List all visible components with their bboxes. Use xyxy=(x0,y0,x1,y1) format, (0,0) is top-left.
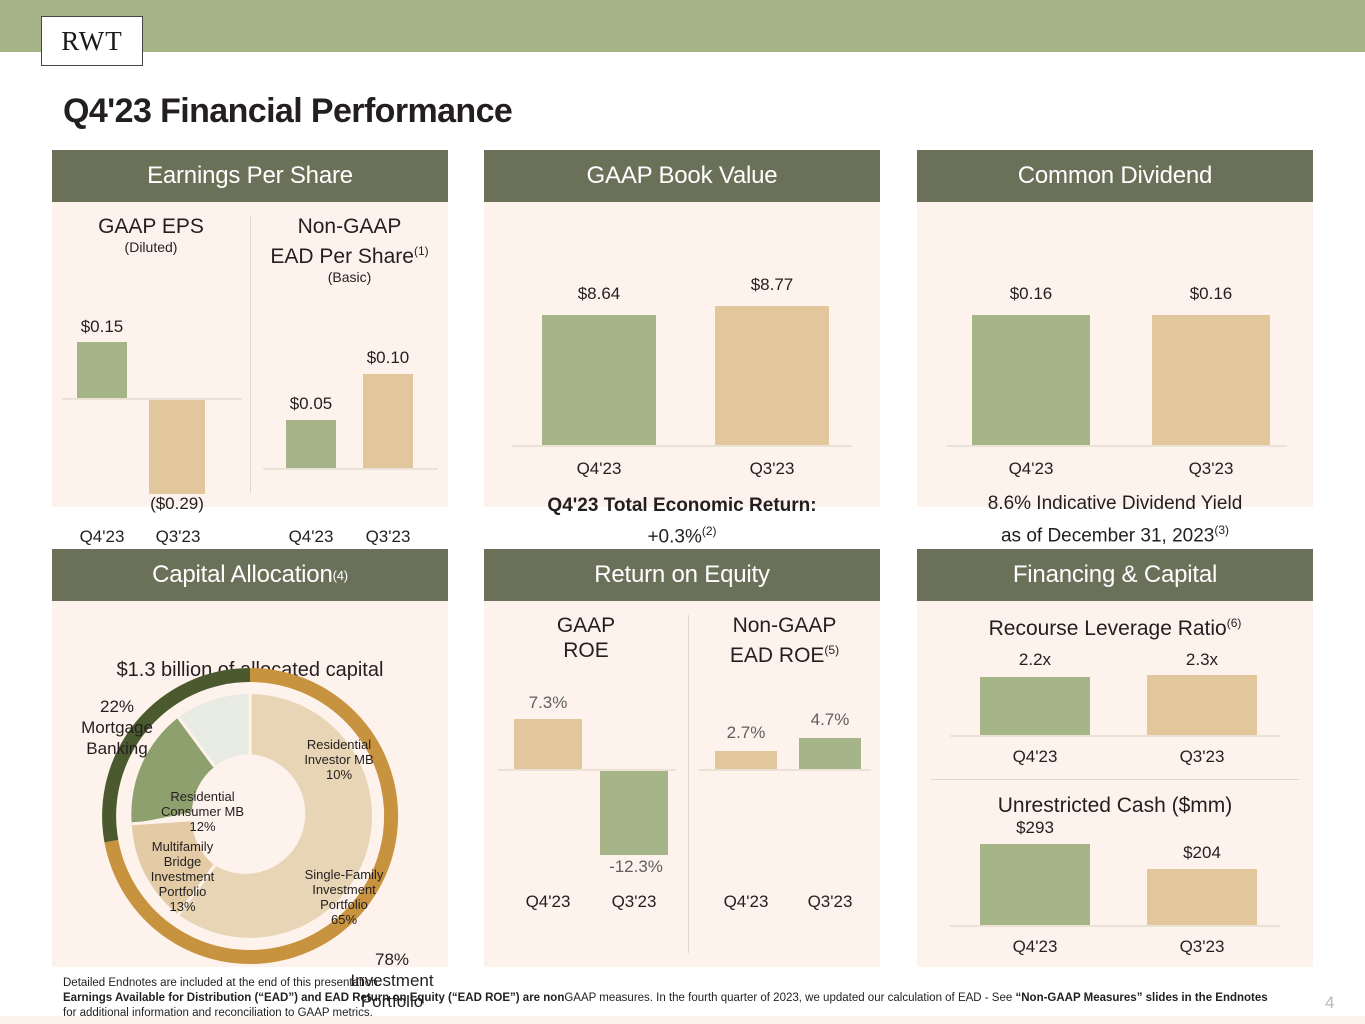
panel-title-gaap-roe-line1: GAAP xyxy=(557,614,615,637)
axis-label-cash-q4: Q4'23 xyxy=(975,937,1095,957)
bar-value-book-value-q3: $8.77 xyxy=(712,275,832,295)
bar-ead-roe-q3 xyxy=(799,738,861,769)
footnote-normal-1: GAAP measures. In the fourth quarter of … xyxy=(564,992,1012,1004)
bar-book-value-q3 xyxy=(715,306,829,445)
card-title-earnings-per-share: Earnings Per Share xyxy=(52,150,448,202)
panel-subtitle-ead: (Basic) xyxy=(251,269,448,286)
donut-label-multifamily-bridge: MultifamilyBridgeInvestmentPortfolio13% xyxy=(130,839,235,914)
card-title-financing-and-capital: Financing & Capital xyxy=(917,549,1313,601)
panel-unrestricted-cash: Unrestricted Cash ($mm) $293 $204 Q4'23 … xyxy=(917,779,1313,967)
bar-gaap-eps-q3 xyxy=(149,400,205,494)
card-title-gaap-book-value: GAAP Book Value xyxy=(484,150,880,202)
note-total-economic-return-value: +0.3%(2) xyxy=(484,519,880,549)
axis-label-ead-q4: Q4'23 xyxy=(271,527,351,547)
page-number: 4 xyxy=(1325,993,1334,1013)
axis-label-dividend-q4: Q4'23 xyxy=(969,459,1093,479)
panel-title-recourse-leverage: Recourse Leverage Ratio xyxy=(989,617,1227,640)
bar-leverage-q3 xyxy=(1147,675,1257,735)
chart-baseline xyxy=(512,445,852,447)
axis-label-cash-q3: Q3'23 xyxy=(1142,937,1262,957)
panel-title-ead-roe-sup: (5) xyxy=(824,643,839,657)
axis-label-ead-roe-q4: Q4'23 xyxy=(699,892,793,912)
panel-title-gaap-roe-line2: ROE xyxy=(563,639,609,662)
axis-label-book-value-q3: Q3'23 xyxy=(712,459,832,479)
bar-value-leverage-q4: 2.2x xyxy=(975,650,1095,670)
card-capital-allocation: Capital Allocation(4) $1.3 billion of al… xyxy=(52,549,448,967)
card-financing-and-capital: Financing & Capital Recourse Leverage Ra… xyxy=(917,549,1313,967)
rc-pct: 12% xyxy=(189,819,215,834)
panel-subtitle-gaap-eps: (Diluted) xyxy=(52,239,250,256)
axis-label-ead-roe-q3: Q3'23 xyxy=(783,892,877,912)
ri-pct: 10% xyxy=(326,767,352,782)
bar-value-cash-q4: $293 xyxy=(975,818,1095,838)
note-total-economic-return: Q4'23 Total Economic Return: xyxy=(484,494,880,518)
bar-ead-roe-q4 xyxy=(715,751,777,769)
bar-value-book-value-q4: $8.64 xyxy=(539,284,659,304)
axis-label-gaap-eps-q4: Q4'23 xyxy=(60,527,144,547)
chart-baseline xyxy=(263,468,438,470)
footnote-line-2: Earnings Available for Distribution (“EA… xyxy=(63,991,1303,1006)
mf-pct: 13% xyxy=(169,899,195,914)
panel-title-ead-roe-line1: Non-GAAP xyxy=(733,614,837,637)
bar-value-ead-roe-q3: 4.7% xyxy=(783,710,877,730)
axis-label-ead-q3: Q3'23 xyxy=(348,527,428,547)
bar-cash-q3 xyxy=(1147,869,1257,925)
ip-pct: 78% xyxy=(375,950,409,969)
donut-label-mortgage-banking: 22%MortgageBanking xyxy=(62,696,172,759)
ter-value: +0.3% xyxy=(647,526,701,547)
bar-ead-q3 xyxy=(363,374,413,468)
chart-baseline xyxy=(950,925,1280,927)
bar-gaap-roe-q4 xyxy=(514,719,582,769)
donut-label-residential-investor-mb: ResidentialInvestor MB10% xyxy=(284,737,394,782)
panel-recourse-leverage-ratio: Recourse Leverage Ratio(6) 2.2x 2.3x Q4'… xyxy=(917,601,1313,779)
card-earnings-per-share: Earnings Per Share GAAP EPS (Diluted) $0… xyxy=(52,150,448,507)
donut-label-residential-consumer-mb: ResidentialConsumer MB12% xyxy=(140,789,265,834)
rwt-logo: RWT xyxy=(41,16,143,66)
bar-value-cash-q3: $204 xyxy=(1142,843,1262,863)
panel-title-unrestricted-cash: Unrestricted Cash ($mm) xyxy=(998,794,1233,817)
bar-value-gaap-eps-q3: ($0.29) xyxy=(137,494,217,514)
capital-allocation-sup: (4) xyxy=(333,568,348,583)
card-title-common-dividend: Common Dividend xyxy=(917,150,1313,202)
bar-gaap-roe-q3 xyxy=(600,771,668,855)
bar-value-ead-q3: $0.10 xyxy=(348,348,428,368)
page-title: Q4'23 Financial Performance xyxy=(63,92,512,131)
ter-sup: (2) xyxy=(702,524,717,538)
note-dividend-yield-line1: 8.6% Indicative Dividend Yield xyxy=(917,492,1313,516)
bar-book-value-q4 xyxy=(542,315,656,445)
bar-ead-q4 xyxy=(286,420,336,468)
card-title-return-on-equity: Return on Equity xyxy=(484,549,880,601)
donut-label-single-family: Single-FamilyInvestmentPortfolio65% xyxy=(285,867,403,927)
chart-baseline xyxy=(950,735,1280,737)
bar-leverage-q4 xyxy=(980,677,1090,735)
note-dividend-yield-line2: as of December 31, 2023(3) xyxy=(917,518,1313,548)
bar-value-ead-roe-q4: 2.7% xyxy=(699,723,793,743)
footnote-line-1: Detailed Endnotes are included at the en… xyxy=(63,976,1303,991)
dividend-yield-sup: (3) xyxy=(1214,523,1229,537)
footnote-bold-2: “Non-GAAP Measures” slides in the Endnot… xyxy=(1015,992,1267,1004)
panel-title-gaap-eps: GAAP EPS xyxy=(98,215,204,238)
bar-dividend-q3 xyxy=(1152,315,1270,445)
panel-title-ead-line1: Non-GAAP xyxy=(298,215,402,238)
mb-pct: 22% xyxy=(100,697,134,716)
panel-title-ead-line2: EAD Per Share xyxy=(270,245,414,268)
bar-value-dividend-q4: $0.16 xyxy=(969,284,1093,304)
panel-ead-roe: Non-GAAP EAD ROE(5) 2.7% 4.7% Q4'23 Q3'2… xyxy=(689,601,880,967)
panel-gaap-roe: GAAP ROE 7.3% -12.3% Q4'23 Q3'23 xyxy=(484,601,688,967)
bar-cash-q4 xyxy=(980,844,1090,925)
axis-label-gaap-roe-q4: Q4'23 xyxy=(498,892,598,912)
bar-dividend-q4 xyxy=(972,315,1090,445)
axis-label-dividend-q3: Q3'23 xyxy=(1149,459,1273,479)
bottom-strip xyxy=(0,1016,1365,1024)
axis-label-leverage-q4: Q4'23 xyxy=(975,747,1095,767)
footnote-bold-1: Earnings Available for Distribution (“EA… xyxy=(63,992,564,1004)
card-title-capital-allocation: Capital Allocation(4) xyxy=(52,549,448,601)
card-gaap-book-value: GAAP Book Value $8.64 $8.77 Q4'23 Q3'23 … xyxy=(484,150,880,507)
axis-label-gaap-roe-q3: Q3'23 xyxy=(584,892,684,912)
axis-label-book-value-q4: Q4'23 xyxy=(539,459,659,479)
capital-allocation-title-text: Capital Allocation xyxy=(152,561,333,589)
axis-label-gaap-eps-q3: Q3'23 xyxy=(136,527,220,547)
bar-value-gaap-roe-q4: 7.3% xyxy=(498,693,598,713)
header-band xyxy=(0,0,1365,52)
card-common-dividend: Common Dividend $0.16 $0.16 Q4'23 Q3'23 … xyxy=(917,150,1313,507)
bar-value-ead-q4: $0.05 xyxy=(271,394,351,414)
chart-baseline xyxy=(947,445,1287,447)
bar-value-gaap-eps-q4: $0.15 xyxy=(62,317,142,337)
footnotes: Detailed Endnotes are included at the en… xyxy=(63,976,1303,1021)
bar-value-dividend-q3: $0.16 xyxy=(1149,284,1273,304)
panel-title-recourse-sup: (6) xyxy=(1227,616,1242,630)
dividend-yield-date: as of December 31, 2023 xyxy=(1001,525,1214,546)
bar-value-gaap-roe-q3: -12.3% xyxy=(586,857,686,877)
bar-gaap-eps-q4 xyxy=(77,342,127,398)
chart-baseline xyxy=(699,769,871,771)
panel-title-ead-sup: (1) xyxy=(414,244,429,258)
panel-title-ead-roe-line2: EAD ROE xyxy=(730,644,825,667)
bar-value-leverage-q3: 2.3x xyxy=(1142,650,1262,670)
card-return-on-equity: Return on Equity GAAP ROE 7.3% -12.3% Q4… xyxy=(484,549,880,967)
axis-label-leverage-q3: Q3'23 xyxy=(1142,747,1262,767)
sf-pct: 65% xyxy=(331,912,357,927)
panel-gaap-eps: GAAP EPS (Diluted) $0.15 ($0.29) Q4'23 Q… xyxy=(52,202,250,507)
panel-ead-per-share: Non-GAAP EAD Per Share(1) (Basic) $0.05 … xyxy=(251,202,448,507)
